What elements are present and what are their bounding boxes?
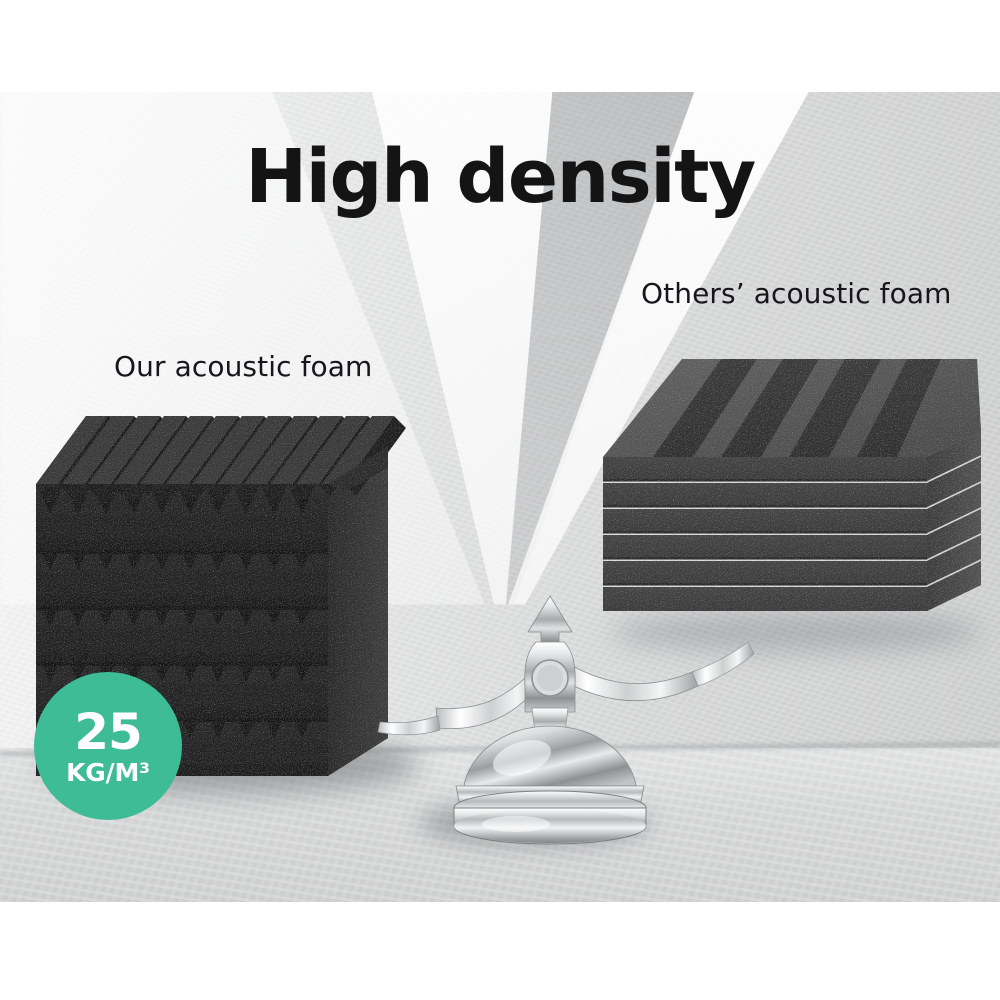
- scale-dome: [464, 726, 636, 786]
- density-unit: KG/M³: [66, 760, 150, 785]
- bottom-white-band: [0, 902, 1000, 1000]
- label-others-foam: Others’ acoustic foam: [641, 277, 951, 310]
- product-banner: 25 KG/M³ High density Our acoustic foam …: [0, 0, 1000, 1000]
- balance-scale: [340, 590, 760, 850]
- label-our-foam: Our acoustic foam: [114, 350, 372, 383]
- scale-arm-right: [556, 660, 698, 701]
- density-badge: 25 KG/M³: [34, 672, 182, 820]
- page-title: High density: [0, 134, 1000, 220]
- balance-scale-svg: [340, 590, 760, 850]
- density-value: 25: [74, 708, 142, 756]
- top-white-band: [0, 0, 1000, 92]
